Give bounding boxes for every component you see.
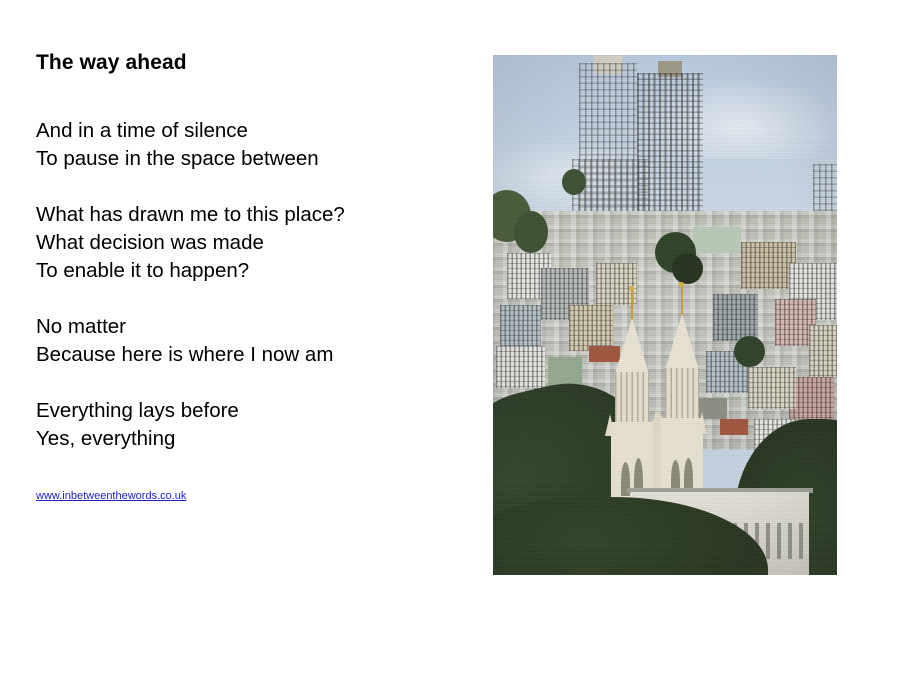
house-block <box>748 367 796 409</box>
website-link[interactable]: www.inbetweenthewords.co.uk <box>36 489 186 503</box>
page-title: The way ahead <box>36 50 466 76</box>
poem-line: No matter <box>36 313 466 341</box>
tree <box>672 253 703 284</box>
slide-canvas: The way ahead And in a time of silence T… <box>0 0 900 679</box>
poem-line: Because here is where I now am <box>36 341 466 369</box>
church-spire-left <box>615 318 649 374</box>
house-block <box>500 305 541 352</box>
poem-stanza: Everything lays before Yes, everything <box>36 397 466 453</box>
church-arched-window <box>684 458 693 492</box>
roof-block <box>720 419 748 435</box>
church-belfry-right <box>665 368 699 424</box>
poem-line: Yes, everything <box>36 425 466 453</box>
photo-content <box>493 55 837 575</box>
poem-line: What has drawn me to this place? <box>36 201 466 229</box>
house-block <box>809 325 837 377</box>
poem-line: To enable it to happen? <box>36 257 466 285</box>
spire-finial <box>631 290 633 320</box>
poem-line: To pause in the space between <box>36 145 466 173</box>
house-block <box>713 294 758 341</box>
poem-line: And in a time of silence <box>36 117 466 145</box>
cityscape-photo <box>493 55 837 575</box>
poem-stanza: What has drawn me to this place? What de… <box>36 201 466 285</box>
spire-finial <box>681 286 683 316</box>
house-block <box>693 227 741 253</box>
poem-line: Everything lays before <box>36 397 466 425</box>
website-link-wrapper: www.inbetweenthewords.co.uk <box>36 486 466 504</box>
house-block <box>496 346 544 388</box>
tree <box>514 211 548 253</box>
church-spire-right <box>665 314 699 370</box>
poem-line: What decision was made <box>36 229 466 257</box>
poem-text-column: The way ahead And in a time of silence T… <box>36 50 466 504</box>
house-block <box>741 242 796 289</box>
spire-finial-ball <box>629 286 634 291</box>
tree <box>734 336 765 367</box>
poem-stanza: No matter Because here is where I now am <box>36 313 466 369</box>
church-belfry-left <box>615 372 649 424</box>
spire-finial-ball <box>679 282 684 287</box>
poem-stanza: And in a time of silence To pause in the… <box>36 117 466 173</box>
